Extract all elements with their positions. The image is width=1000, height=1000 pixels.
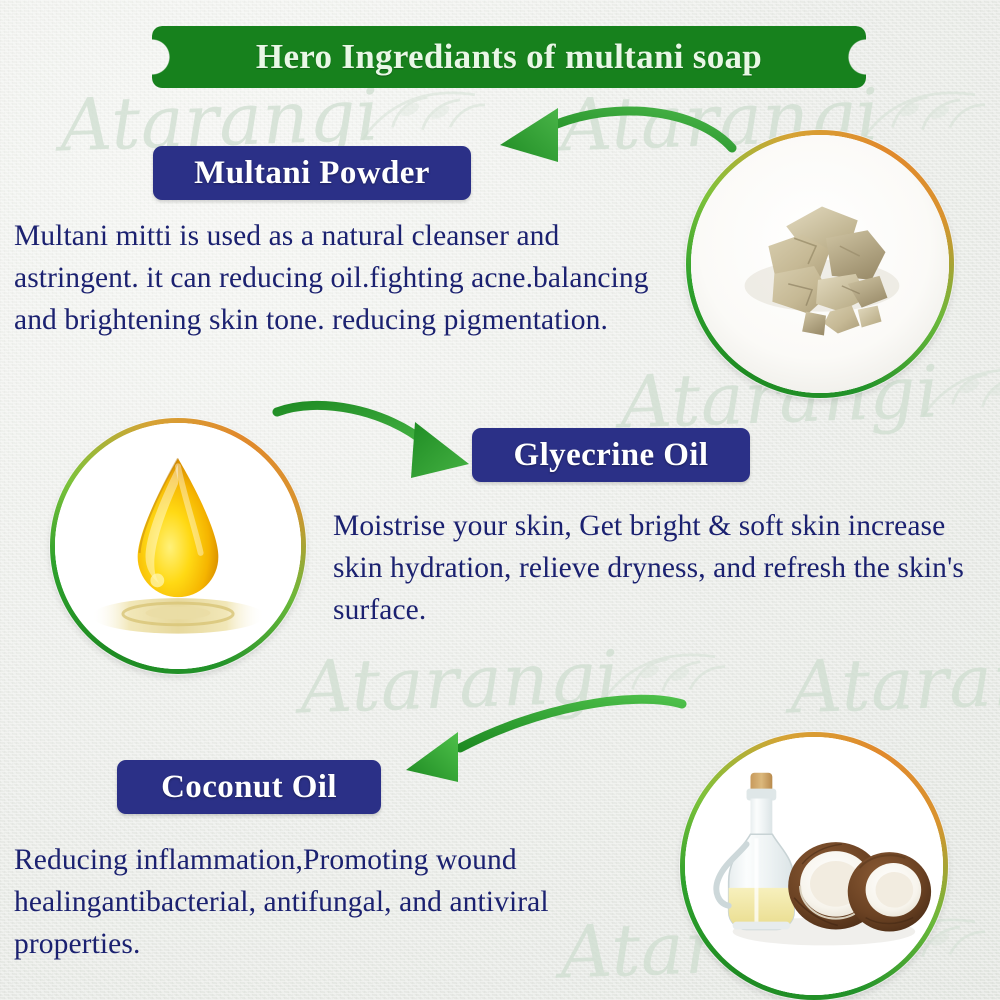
label-multani-powder-text: Multani Powder [194,155,430,192]
infographic-canvas: AtarangiAtarangiAtarangiAtarangiAtarangi… [0,0,1000,1000]
coconut-oil-bottle-photo [680,732,948,1000]
watermark-leaf-icon [915,349,1000,437]
arrow-to-glyecrine-oil [275,392,505,484]
multani-clay-chunks-photo-inner [691,135,949,393]
description-glyecrine-oil: Moistrise your skin, Get bright & soft s… [333,506,988,632]
watermark-leaf-icon [595,634,745,722]
watermark-atarangi: Atarangi [299,634,621,729]
header-banner: Hero Ingrediants of multani soap [152,26,866,88]
description-multani-powder: Multani mitti is used as a natural clean… [14,216,664,342]
description-coconut-oil: Reducing inflammation,Promoting wound he… [14,840,674,966]
label-multani-powder[interactable]: Multani Powder [153,146,471,200]
arrow-to-coconut-oil [386,692,686,792]
watermark-atarangi: Atarangi [789,634,1000,729]
coconut-oil-illustration [685,737,943,995]
multani-clay-chunks-photo [686,130,954,398]
label-glyecrine-oil[interactable]: Glyecrine Oil [472,428,750,482]
arrow-to-multani-powder [486,92,736,178]
label-glyecrine-oil-text: Glyecrine Oil [514,437,709,474]
label-coconut-oil-text: Coconut Oil [161,769,337,806]
page-title: Hero Ingrediants of multani soap [256,37,762,77]
oil-droplet-illustration [55,423,301,669]
label-coconut-oil[interactable]: Coconut Oil [117,760,381,814]
glycerine-oil-droplet-photo-inner [55,423,301,669]
glycerine-oil-droplet-photo [50,418,306,674]
multani-clay-illustration [691,135,949,393]
coconut-oil-bottle-photo-inner [685,737,943,995]
